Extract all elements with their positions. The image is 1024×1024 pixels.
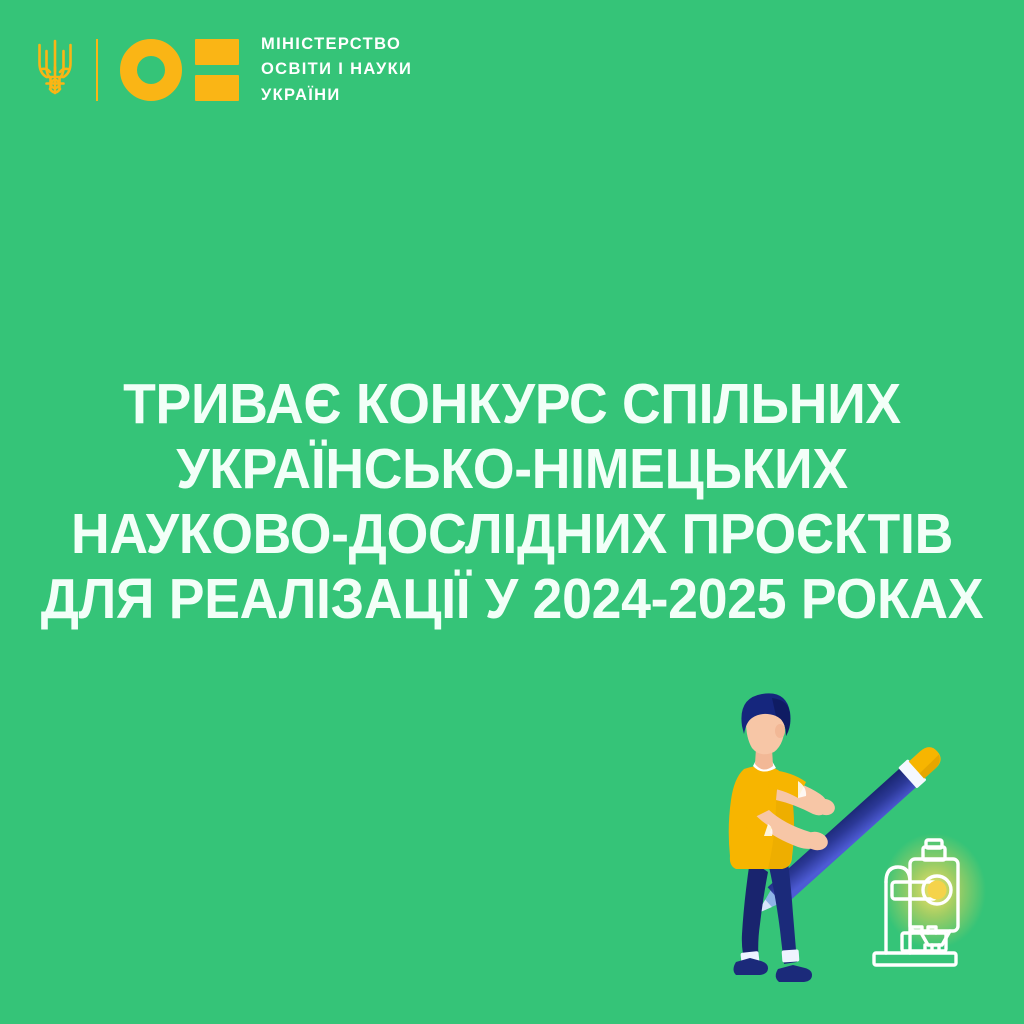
ministry-name-line-3: УКРАЇНИ xyxy=(261,83,412,108)
mon-equals-bar-top xyxy=(195,39,239,65)
mon-logo-mark xyxy=(120,39,239,101)
ministry-name-line-1: МІНІСТЕРСТВО xyxy=(261,32,412,57)
headline: ТРИВАЄ КОНКУРС СПІЛЬНИХ УКРАЇНСЬКО-НІМЕЦ… xyxy=(31,372,994,632)
microscope-icon xyxy=(874,833,986,965)
figure-shoe-front xyxy=(776,965,812,982)
figure-shoe-back xyxy=(734,958,769,975)
logo-divider xyxy=(96,39,98,101)
headline-line-1: ТРИВАЄ КОНКУРС СПІЛЬНИХ xyxy=(31,372,994,437)
ministry-name: МІНІСТЕРСТВО ОСВІТИ І НАУКИ УКРАЇНИ xyxy=(261,32,412,107)
illustration-svg xyxy=(706,686,1024,1006)
mon-circle-icon xyxy=(120,39,182,101)
researcher-with-pencil-illustration xyxy=(706,686,1024,1006)
ministry-name-line-2: ОСВІТИ І НАУКИ xyxy=(261,57,412,82)
headline-line-2: УКРАЇНСЬКО-НІМЕЦЬКИХ xyxy=(31,437,994,502)
ministry-logo-lockup[interactable]: МІНІСТЕРСТВО ОСВІТИ І НАУКИ УКРАЇНИ xyxy=(34,28,412,112)
microscope-lens-glow xyxy=(928,881,947,900)
figure-leg-back xyxy=(742,860,768,967)
ukraine-trident-coat-of-arms-icon xyxy=(34,37,76,103)
mon-equals-icon xyxy=(195,39,239,101)
figure-ear xyxy=(775,724,785,738)
headline-line-3: НАУКОВО-ДОСЛІДНИХ ПРОЄКТІВ xyxy=(31,502,994,567)
figure-sock-front xyxy=(782,949,800,962)
headline-line-4: ДЛЯ РЕАЛІЗАЦІЇ У 2024-2025 РОКАХ xyxy=(31,567,994,632)
mon-equals-bar-bottom xyxy=(195,75,239,101)
researcher-figure xyxy=(729,693,837,982)
poster-canvas: МІНІСТЕРСТВО ОСВІТИ І НАУКИ УКРАЇНИ ТРИВ… xyxy=(0,0,1024,1024)
